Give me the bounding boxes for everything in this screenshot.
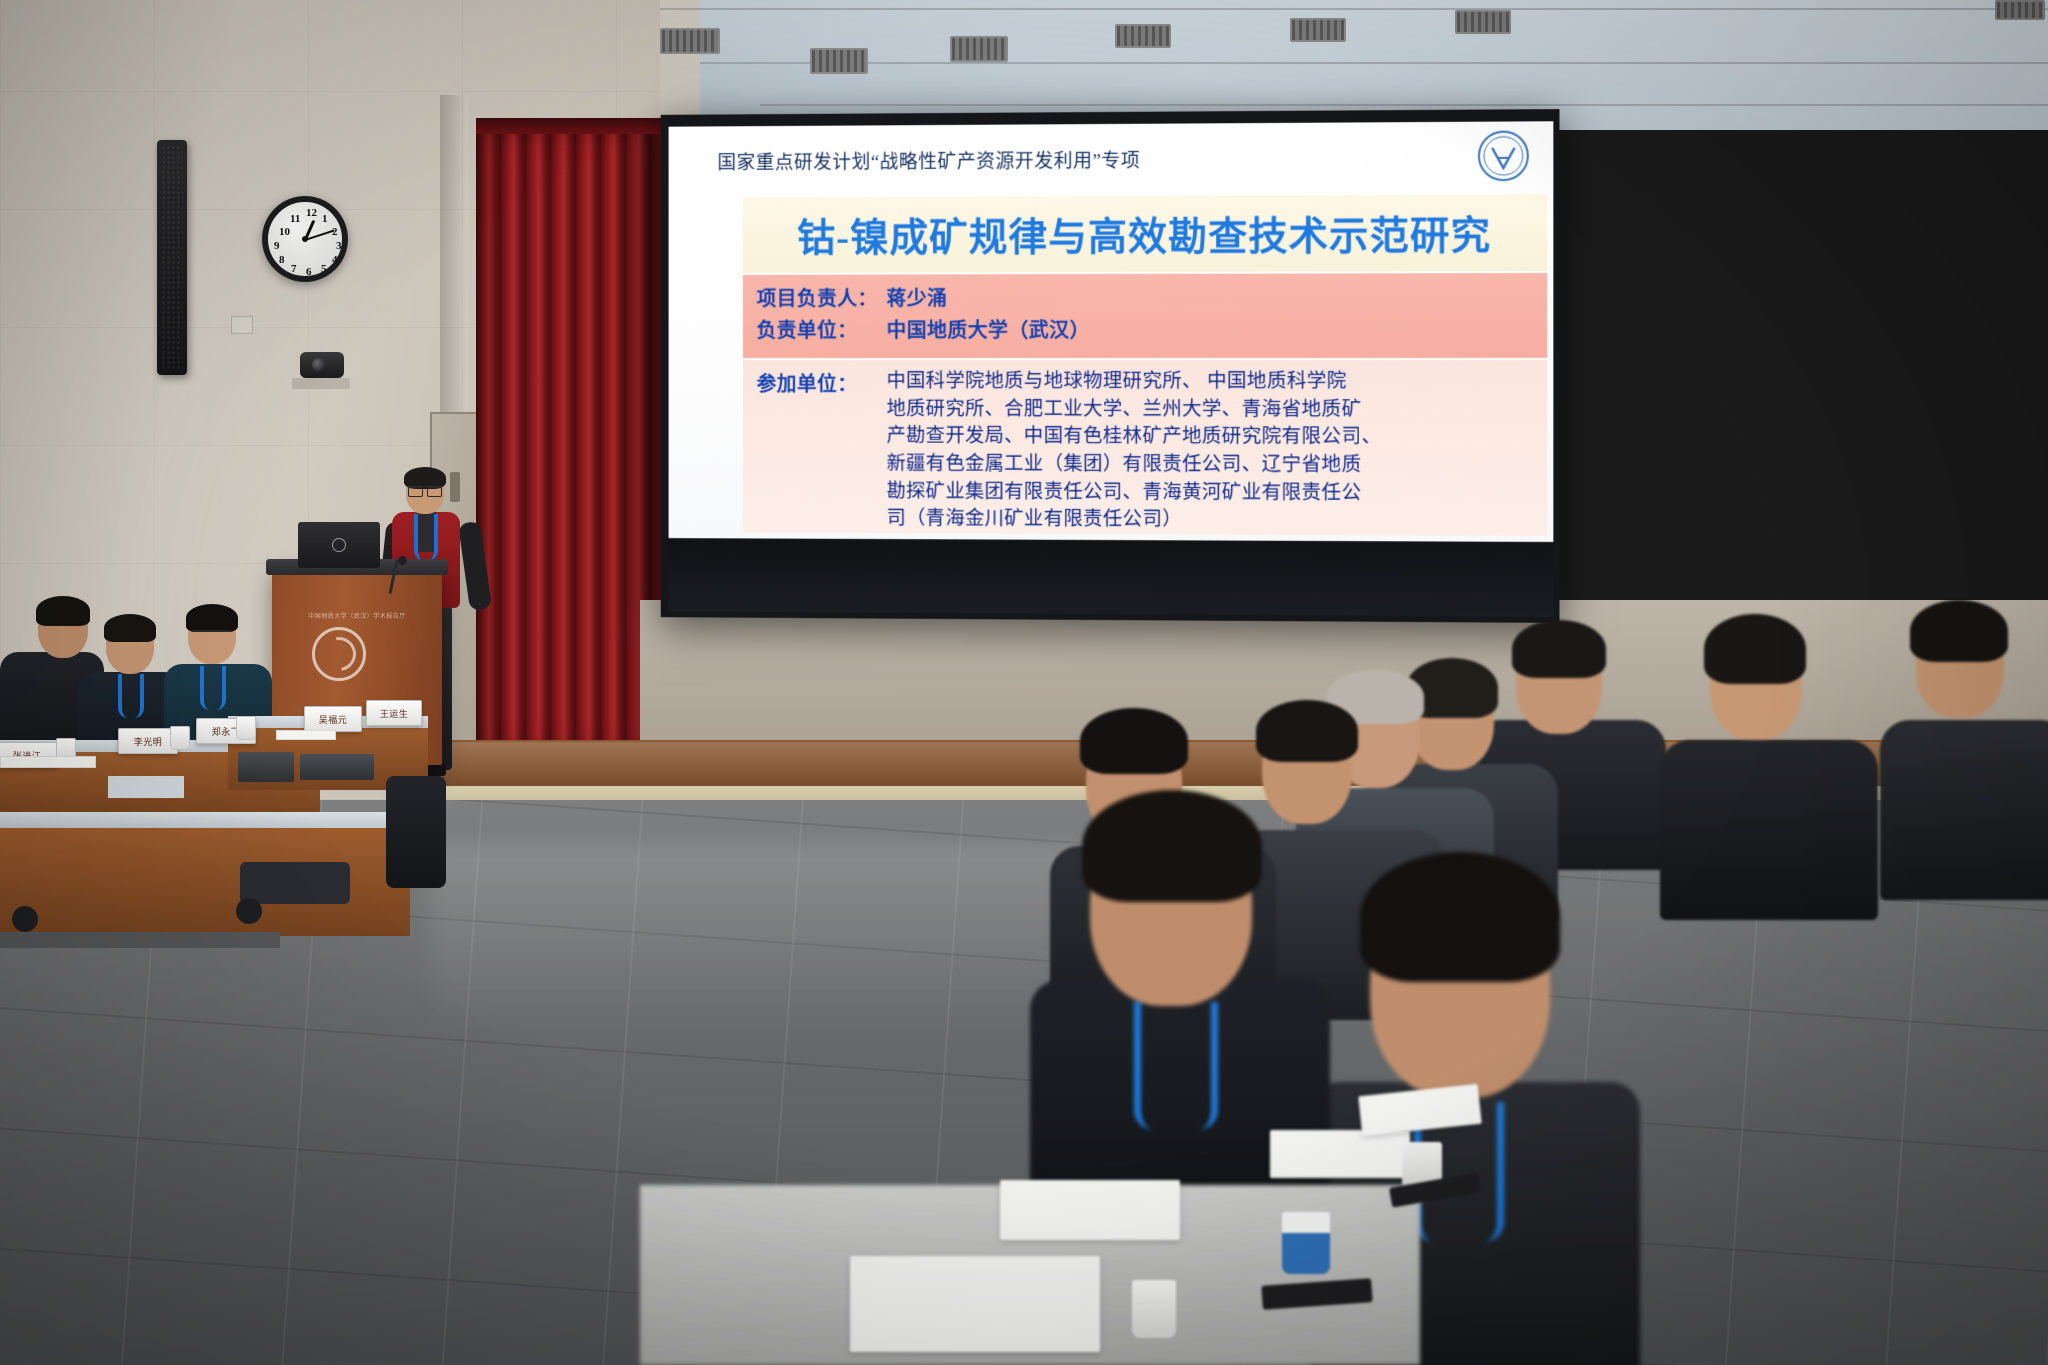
laptop[interactable] bbox=[238, 752, 294, 782]
curtain-rail bbox=[476, 118, 666, 134]
audience-hair bbox=[1360, 852, 1560, 982]
info-key: 项目负责人： bbox=[757, 282, 887, 311]
camera-mount-arm bbox=[292, 378, 350, 389]
ceiling-vent bbox=[1290, 18, 1346, 42]
dell-logo-icon bbox=[332, 538, 346, 552]
audience-torso bbox=[1660, 740, 1878, 920]
wall-speaker bbox=[157, 140, 187, 375]
audience-lanyard bbox=[118, 674, 144, 718]
nameplate: 王运生 bbox=[366, 700, 422, 726]
info-value: 蒋少涌 bbox=[887, 282, 948, 311]
audience-torso bbox=[1880, 720, 2048, 900]
info-key: 负责单位： bbox=[757, 314, 887, 343]
clock-number: 1 bbox=[322, 213, 328, 225]
clock-number: 12 bbox=[306, 207, 317, 219]
backpack bbox=[386, 776, 446, 888]
audience-hair bbox=[1704, 614, 1806, 684]
document-sheet[interactable] bbox=[850, 1256, 1100, 1352]
participants-line: 司（青海金川矿业有限责任公司） bbox=[887, 506, 1382, 536]
laptop[interactable] bbox=[300, 754, 374, 780]
glasses-icon bbox=[408, 486, 442, 494]
ceiling-panel-line bbox=[760, 104, 2048, 106]
participants-line: 产勘查开发局、中国有色桂林矿产地质研究院有限公司、 bbox=[887, 423, 1382, 452]
bag-under-table bbox=[240, 862, 350, 904]
audience-hair bbox=[1082, 790, 1262, 902]
table-caster-wheel bbox=[12, 906, 38, 932]
clock-number: 6 bbox=[306, 266, 312, 278]
clock-number: 9 bbox=[274, 240, 280, 252]
stage-curtain bbox=[476, 120, 666, 760]
slide-title-band: 钴-镍成矿规律与高效勘查技术示范研究 bbox=[743, 194, 1547, 273]
ceiling-panel-line bbox=[620, 8, 2048, 10]
slide-info-participants: 参加单位： 中国科学院地质与地球物理研究所、 中国地质科学院 地质研究所、合肥工… bbox=[743, 360, 1547, 536]
paper-cup[interactable] bbox=[1282, 1212, 1330, 1274]
podium-monitor[interactable] bbox=[298, 522, 380, 568]
ceiling-panel-line bbox=[700, 62, 2048, 64]
clock-number: 5 bbox=[321, 263, 327, 275]
audience-hair bbox=[186, 604, 238, 632]
presenter-lanyard bbox=[414, 514, 438, 562]
audience-lanyard bbox=[200, 666, 226, 710]
document-sheet[interactable] bbox=[0, 756, 96, 768]
presentation-scene: 12 1 2 3 4 5 6 7 8 9 10 11 国家重点研发计划“战略性矿… bbox=[0, 0, 2048, 1365]
info-row-lead-unit: 负责单位： 中国地质大学（武汉） bbox=[757, 313, 1548, 343]
table-caster-wheel bbox=[236, 898, 262, 924]
nameplate: 李光明 bbox=[118, 728, 178, 754]
clock-number: 4 bbox=[332, 254, 338, 266]
document-sheet[interactable] bbox=[276, 730, 336, 740]
ceiling-vent bbox=[1995, 0, 2045, 20]
audience-lanyard bbox=[1134, 1002, 1218, 1130]
document-sheet[interactable] bbox=[1270, 1130, 1410, 1178]
ceiling-vent bbox=[1455, 10, 1511, 34]
university-logo-icon bbox=[1468, 127, 1539, 190]
slide-info-primary: 项目负责人： 蒋少涌 负责单位： 中国地质大学（武汉） bbox=[743, 273, 1547, 358]
clock-number: 10 bbox=[279, 226, 290, 238]
audience-hair bbox=[104, 614, 156, 642]
participants-value: 中国科学院地质与地球物理研究所、 中国地质科学院 地质研究所、合肥工业大学、兰州… bbox=[887, 368, 1382, 535]
clock-number: 11 bbox=[290, 213, 300, 225]
participants-line: 新疆有色金属工业（集团）有限责任公司、辽宁省地质 bbox=[887, 451, 1382, 480]
audience-member bbox=[1880, 600, 2048, 880]
nameplate: 吴福元 bbox=[304, 706, 362, 732]
podium-engraved-text: 中国地质大学（武汉）学术报告厅 bbox=[280, 611, 434, 620]
clock-number: 7 bbox=[291, 263, 297, 275]
clock-number: 8 bbox=[279, 254, 285, 266]
speaker-grill-icon bbox=[161, 145, 183, 370]
paper-cup[interactable] bbox=[170, 726, 190, 750]
participants-line: 勘探矿业集团有限责任公司、青海黄河矿业有限责任公 bbox=[887, 478, 1382, 507]
document-sheet[interactable] bbox=[1000, 1180, 1180, 1240]
audience-hair bbox=[1910, 600, 2008, 662]
participants-line: 中国科学院地质与地球物理研究所、 中国地质科学院 bbox=[887, 368, 1382, 396]
presentation-slide: 国家重点研发计划“战略性矿产资源开发利用”专项 钴-镍成矿规律与高效勘查技术示范… bbox=[669, 121, 1554, 542]
info-row-leader: 项目负责人： 蒋少涌 bbox=[757, 281, 1548, 311]
podium-emblem-icon bbox=[312, 627, 366, 681]
paper-cup[interactable] bbox=[1132, 1280, 1176, 1338]
ceiling-camera bbox=[300, 352, 344, 378]
slide-header-text: 国家重点研发计划“战略性矿产资源开发利用”专项 bbox=[717, 144, 1512, 175]
paper-cup[interactable] bbox=[236, 716, 256, 740]
ceiling-vent bbox=[1115, 24, 1171, 48]
slide-title: 钴-镍成矿规律与高效勘查技术示范研究 bbox=[797, 204, 1491, 262]
ceiling-vent bbox=[810, 48, 868, 74]
participants-key: 参加单位： bbox=[757, 368, 887, 397]
audience-member bbox=[1660, 614, 1880, 904]
projection-screen: 国家重点研发计划“战略性矿产资源开发利用”专项 钴-镍成矿规律与高效勘查技术示范… bbox=[661, 109, 1560, 623]
document-sheet[interactable] bbox=[108, 776, 184, 798]
clock-number: 3 bbox=[336, 240, 342, 252]
table-base-bar bbox=[0, 932, 280, 948]
glasses-icon bbox=[192, 630, 230, 638]
clock-center-pin bbox=[302, 236, 308, 242]
podium-emblem-inner-icon bbox=[315, 630, 362, 677]
microphone-head-icon[interactable] bbox=[398, 556, 407, 565]
wall-clock: 12 1 2 3 4 5 6 7 8 9 10 11 bbox=[262, 196, 348, 282]
screen-lower-bezel bbox=[669, 540, 1554, 617]
info-value: 中国地质大学（武汉） bbox=[887, 314, 1090, 343]
ceiling-vent bbox=[950, 36, 1008, 62]
camera-lens-icon bbox=[312, 358, 326, 372]
ceiling-vent bbox=[660, 28, 720, 54]
wall-socket-plate[interactable] bbox=[231, 316, 253, 334]
participants-line: 地质研究所、合肥工业大学、兰州大学、青海省地质矿 bbox=[887, 396, 1382, 424]
audience-hair bbox=[1080, 708, 1188, 774]
